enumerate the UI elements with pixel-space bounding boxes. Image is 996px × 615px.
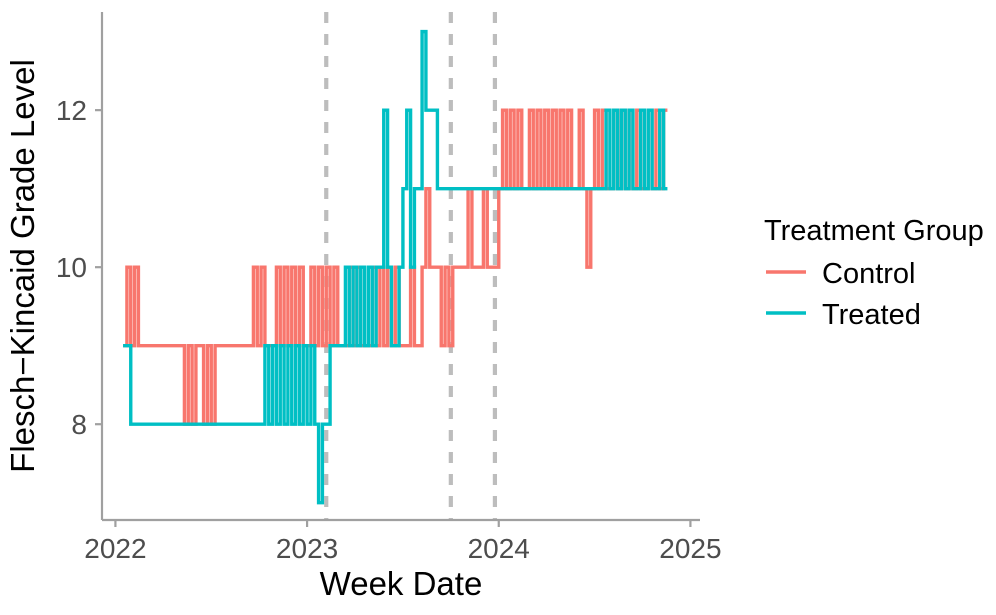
legend-items: ControlTreated [766,258,921,331]
legend-label-control[interactable]: Control [822,258,916,290]
legend-title: Treatment Group [764,215,984,247]
x-tick-label-2023: 2023 [276,533,338,564]
legend-label-treated[interactable]: Treated [822,299,921,331]
legend: Treatment Group ControlTreated [764,215,984,331]
flesch-kincaid-line-chart: 81012 2022202320242025 Week Date Flesch−… [0,0,996,615]
x-tick-label-2024: 2024 [468,533,530,564]
y-axis-title: Flesch−Kincaid Grade Level [4,59,41,473]
y-tick-label-12: 12 [56,95,87,126]
y-axis-ticks: 81012 [56,95,102,440]
x-tick-label-2025: 2025 [659,533,721,564]
x-axis-title: Week Date [320,565,483,602]
x-tick-label-2022: 2022 [84,533,146,564]
y-tick-label-10: 10 [56,252,87,283]
chart-container: 81012 2022202320242025 Week Date Flesch−… [0,0,996,615]
x-axis-ticks: 2022202320242025 [84,520,721,564]
y-tick-label-8: 8 [71,409,87,440]
